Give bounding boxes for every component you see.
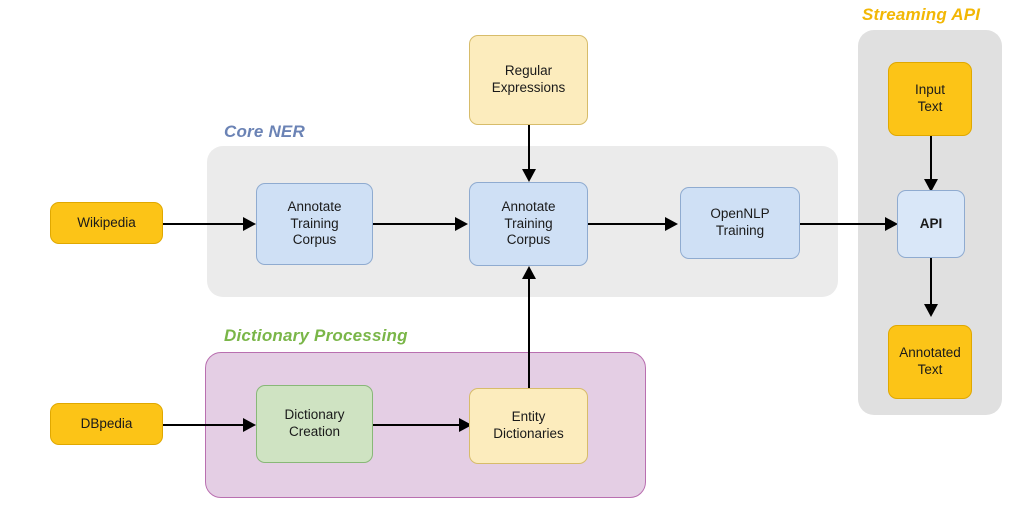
node-label-input-text: InputText [915,82,945,116]
edge-input-text-to-api [930,136,933,182]
node-label-dbpedia: DBpedia [81,416,133,433]
node-label-annotate-corpus-2: AnnotateTrainingCorpus [501,199,555,250]
group-label-dictionary-processing: Dictionary Processing [224,326,408,346]
edge-regular-expressions-to-annotate-corpus-2 [528,124,531,172]
node-label-opennlp-training: OpenNLPTraining [710,206,769,240]
edge-annotate-corpus-1-to-annotate-corpus-2 [373,223,457,226]
node-annotated-text[interactable]: AnnotatedText [888,325,972,399]
node-opennlp-training[interactable]: OpenNLPTraining [680,187,800,259]
node-dbpedia[interactable]: DBpedia [50,403,163,445]
arrowhead-entity-dictionaries-to-annotate-corpus-2 [522,266,536,279]
group-label-streaming-api: Streaming API [862,5,980,25]
node-label-entity-dictionaries: EntityDictionaries [493,409,564,443]
edge-api-to-annotated-text [930,258,933,307]
node-entity-dictionaries[interactable]: EntityDictionaries [469,388,588,464]
edge-annotate-corpus-2-to-opennlp-training [588,223,668,226]
node-wikipedia[interactable]: Wikipedia [50,202,163,244]
node-regular-expressions[interactable]: RegularExpressions [469,35,588,125]
node-label-regular-expressions: RegularExpressions [492,63,566,97]
node-label-wikipedia: Wikipedia [77,215,136,232]
arrowhead-annotate-corpus-1-to-annotate-corpus-2 [455,217,468,231]
node-label-annotated-text: AnnotatedText [899,345,961,379]
edge-dbpedia-to-dictionary-creation [163,424,245,427]
edge-wikipedia-to-annotate-corpus-1 [163,223,245,226]
group-label-core-ner: Core NER [224,122,305,142]
arrowhead-wikipedia-to-annotate-corpus-1 [243,217,256,231]
arrowhead-api-to-annotated-text [924,304,938,317]
node-label-dictionary-creation: DictionaryCreation [284,407,344,441]
node-annotate-corpus-2[interactable]: AnnotateTrainingCorpus [469,182,588,266]
diagram-canvas: Core NER Dictionary Processing Streaming… [0,0,1024,531]
edge-opennlp-training-to-api [800,223,888,226]
node-label-annotate-corpus-1: AnnotateTrainingCorpus [287,199,341,250]
edge-entity-dictionaries-to-annotate-corpus-2 [528,278,531,388]
node-dictionary-creation[interactable]: DictionaryCreation [256,385,373,463]
node-input-text[interactable]: InputText [888,62,972,136]
node-api[interactable]: API [897,190,965,258]
edge-dictionary-creation-to-entity-dictionaries [373,424,461,427]
node-label-api: API [920,216,943,233]
arrowhead-annotate-corpus-2-to-opennlp-training [665,217,678,231]
node-annotate-corpus-1[interactable]: AnnotateTrainingCorpus [256,183,373,265]
arrowhead-regular-expressions-to-annotate-corpus-2 [522,169,536,182]
arrowhead-dbpedia-to-dictionary-creation [243,418,256,432]
